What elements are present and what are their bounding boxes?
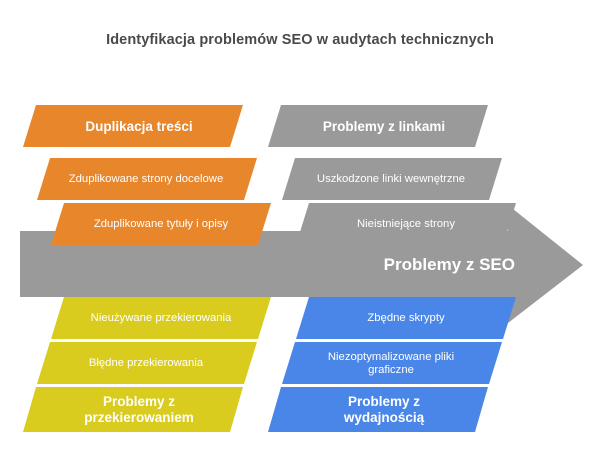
branch-blue-item-1-label: Zbędne skrypty: [307, 302, 505, 335]
branch-gray-item-2-label: Nieistniejące strony: [307, 208, 505, 241]
branch-yellow-header-label: Problemy z przekierowaniem: [40, 391, 238, 428]
fishbone-diagram: Identyfikacja problemów SEO w audytach t…: [0, 0, 600, 462]
spine-label: Problemy z SEO: [300, 250, 515, 280]
branch-blue-header-label: Problemy z wydajnością: [285, 391, 483, 428]
branch-orange-item-1-label: Zduplikowane strony docelowe: [46, 163, 246, 196]
branch-blue-item-2-label: Niezoptymalizowane pliki graficzne: [291, 347, 491, 380]
branch-yellow-item-1-label: Nieużywane przekierowania: [62, 302, 260, 335]
branch-yellow-item-2-label: Błędne przekierowania: [46, 347, 246, 380]
branch-orange-header-label: Duplikacja treści: [40, 110, 238, 143]
branch-gray-item-1-label: Uszkodzone linki wewnętrzne: [291, 163, 491, 196]
branch-orange-item-2-label: Zduplikowane tytuły i opisy: [62, 208, 260, 241]
branch-gray-header-label: Problemy z linkami: [285, 110, 483, 143]
